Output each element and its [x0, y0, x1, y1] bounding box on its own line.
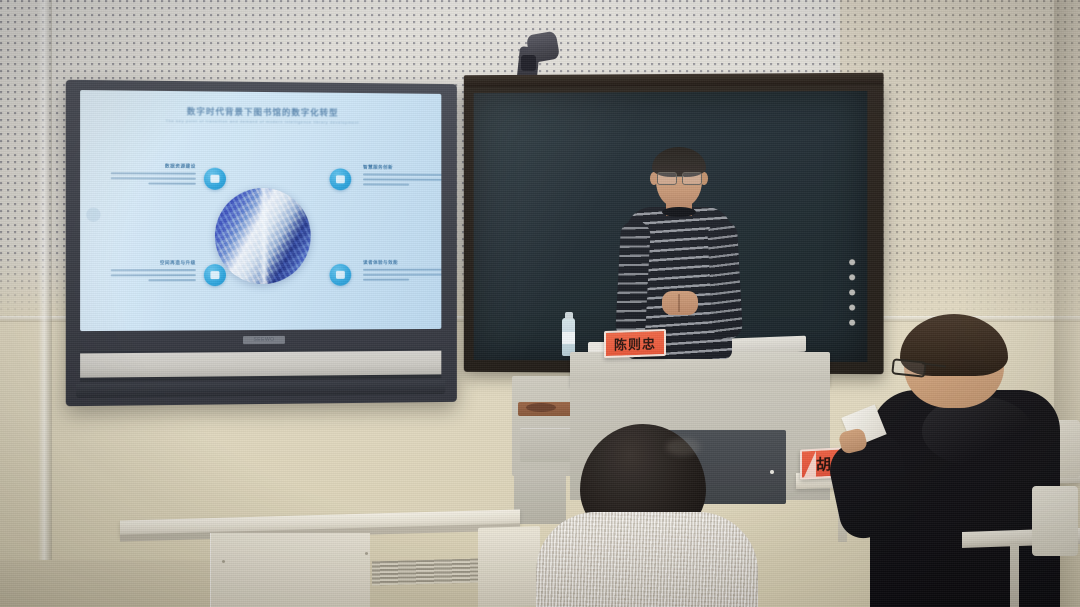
presenter-collar: [662, 207, 696, 217]
slide-text-block-4: 读者体验与效能: [363, 260, 441, 283]
slide-block-heading-2: 智慧服务创新: [363, 165, 441, 171]
presentation-slide: 数字时代背景下图书馆的数字化转型 The key point of transi…: [80, 90, 441, 331]
slide-block-line: [363, 173, 441, 176]
hands-gap: [678, 294, 680, 312]
water-bottle-cap: [565, 312, 573, 319]
wall-corner-left: [38, 0, 52, 560]
attendee-front-jacket: [536, 512, 758, 607]
slide-text-block-2: 智慧服务创新: [363, 165, 441, 189]
slide-badge-icon-4: [330, 264, 352, 286]
presenter-hands: [662, 291, 698, 315]
display-screen[interactable]: 数字时代背景下图书馆的数字化转型 The key point of transi…: [80, 90, 441, 331]
camera-lens: [521, 55, 536, 71]
panel-screw: [365, 552, 368, 555]
presenter: [600, 145, 760, 360]
slide-block-line: [363, 178, 441, 181]
slide-center-image-highlight: [259, 188, 269, 284]
slide-block-line: [111, 172, 196, 175]
slide-block-heading-4: 读者体验与效能: [363, 260, 441, 266]
chair-back-right: [1032, 486, 1078, 556]
slide-text-block-1: 数据资源建设: [111, 163, 196, 187]
attendee-front-jacket-texture: [536, 512, 758, 607]
desk-vent-grate: [372, 559, 478, 586]
slide-badge-icon-2: [330, 168, 352, 190]
namecard-presenter-text: 陈则忠: [614, 333, 656, 353]
water-bottle-label: [562, 332, 575, 344]
interactive-display[interactable]: 数字时代背景下图书馆的数字化转型 The key point of transi…: [66, 80, 457, 406]
lectern-cable-grommet: [526, 403, 556, 412]
blackboard-top-rail: [464, 73, 884, 87]
slide-block-line: [363, 183, 409, 185]
panel-screw: [222, 560, 225, 563]
display-brand-logo: SEEWO: [243, 336, 285, 344]
slide-block-line: [148, 182, 196, 184]
presenter-glasses-icon: [657, 172, 702, 183]
slide-block-line: [363, 269, 441, 271]
slide-block-line: [363, 278, 409, 280]
display-whiteboard-tray: [80, 349, 441, 382]
presenter-arm-right: [707, 220, 743, 339]
desk-far-right-leg: [1010, 544, 1019, 607]
slide-badge-icon-1: [204, 168, 226, 190]
slide-text-block-3: 空间再造与升级: [111, 260, 196, 284]
slide-block-line: [111, 274, 196, 276]
namecard-presenter: 陈则忠: [604, 329, 666, 358]
attendee-right-glasses-icon: [891, 358, 926, 377]
attendee-front: [528, 424, 758, 607]
slide-center-image: [215, 188, 311, 284]
slide-block-line: [363, 273, 441, 275]
slide-block-heading-3: 空间再造与升级: [111, 260, 196, 266]
attendee-front-hair-highlight: [666, 438, 700, 456]
glasses-bridge: [675, 176, 684, 177]
slide-body: 数据资源建设 智慧服务创新 空间再造与升级: [80, 143, 441, 325]
slide-block-line: [111, 177, 196, 180]
attendee-right: [852, 312, 1080, 607]
lectern-knob: [770, 470, 774, 474]
desk-left-panel: [210, 533, 370, 607]
presenter-arm-left: [615, 220, 651, 339]
slide-badge-icon-3: [204, 264, 226, 286]
classroom-scene: 数字时代背景下图书馆的数字化转型 The key point of transi…: [0, 0, 1080, 607]
slide-block-heading-1: 数据资源建设: [111, 163, 196, 169]
slide-block-line: [148, 279, 196, 281]
display-bottom-lip: [76, 380, 445, 398]
slide-block-line: [111, 269, 196, 271]
